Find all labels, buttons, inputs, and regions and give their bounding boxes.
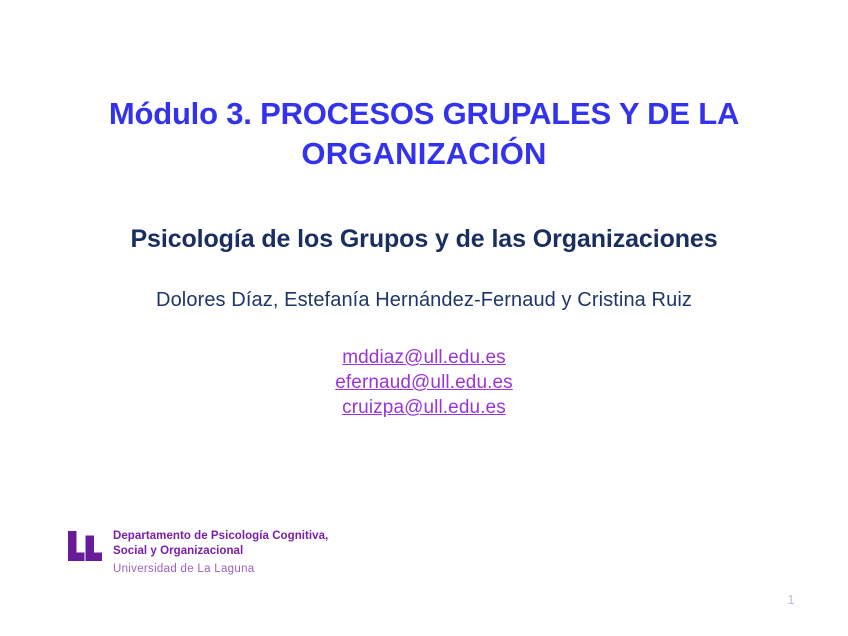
page-number: 1 — [780, 592, 802, 608]
logo-university-name: Universidad de La Laguna — [113, 561, 328, 577]
slide-title-line-2: ORGANIZACIÓN — [66, 134, 782, 174]
logo-department-line-1: Departamento de Psicología Cognitiva, — [113, 529, 328, 544]
presentation-slide: Módulo 3. PROCESOS GRUPALES Y DE LA ORGA… — [0, 0, 848, 636]
institution-logo: Departamento de Psicología Cognitiva, So… — [68, 528, 328, 577]
email-link-1[interactable]: mddiaz@ull.edu.es — [44, 345, 804, 370]
slide-subtitle: Psicología de los Grupos y de las Organi… — [44, 223, 804, 255]
slide-title-line-1: Módulo 3. PROCESOS GRUPALES Y DE LA — [66, 94, 782, 134]
logo-text-block: Departamento de Psicología Cognitiva, So… — [113, 528, 328, 577]
ull-logo-mark-icon — [68, 531, 102, 561]
slide-authors: Dolores Díaz, Estefanía Hernández-Fernau… — [44, 287, 804, 313]
email-link-2[interactable]: efernaud@ull.edu.es — [44, 370, 804, 395]
email-link-3[interactable]: cruizpa@ull.edu.es — [44, 395, 804, 420]
logo-department-line-2: Social y Organizacional — [113, 544, 328, 559]
email-list: mddiaz@ull.edu.es efernaud@ull.edu.es cr… — [44, 345, 804, 420]
slide-title: Módulo 3. PROCESOS GRUPALES Y DE LA ORGA… — [66, 94, 782, 174]
